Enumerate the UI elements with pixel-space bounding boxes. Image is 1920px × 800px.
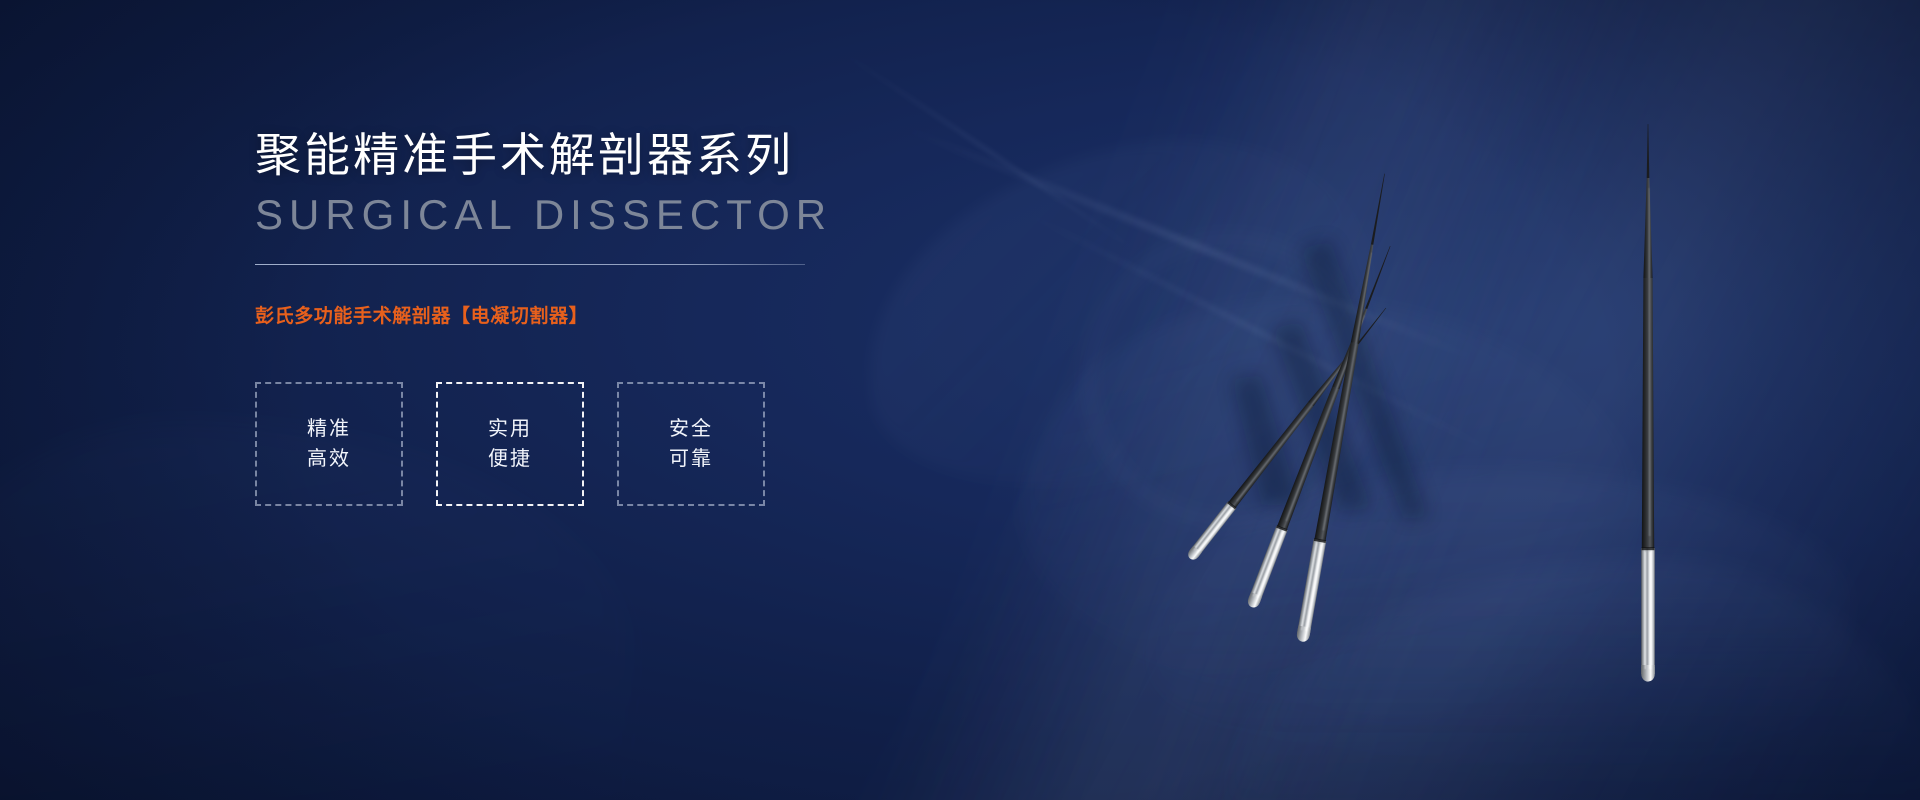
product-banner: 聚能精准手术解剖器系列 SURGICAL DISSECTOR 彭氏多功能手术解剖…: [0, 0, 1920, 800]
feature-box-2-line-1: 实用: [488, 419, 532, 439]
banner-content: 聚能精准手术解剖器系列 SURGICAL DISSECTOR 彭氏多功能手术解剖…: [255, 128, 955, 506]
feature-box-1-line-2: 高效: [307, 449, 351, 469]
feature-box-2: 实用 便捷: [436, 382, 584, 506]
feature-box-3-line-2: 可靠: [669, 449, 713, 469]
feature-box-3: 安全 可靠: [617, 382, 765, 506]
feature-box-1: 精准 高效: [255, 382, 403, 506]
feature-box-3-line-1: 安全: [669, 419, 713, 439]
feature-box-group: 精准 高效 实用 便捷 安全 可靠: [255, 382, 955, 506]
page-subtitle-english: SURGICAL DISSECTOR: [255, 192, 955, 238]
title-divider: [255, 264, 805, 265]
feature-box-1-line-1: 精准: [307, 419, 351, 439]
product-name-label: 彭氏多功能手术解剖器【电凝切割器】: [255, 301, 955, 328]
feature-box-2-line-2: 便捷: [488, 449, 532, 469]
page-title: 聚能精准手术解剖器系列: [255, 128, 955, 182]
